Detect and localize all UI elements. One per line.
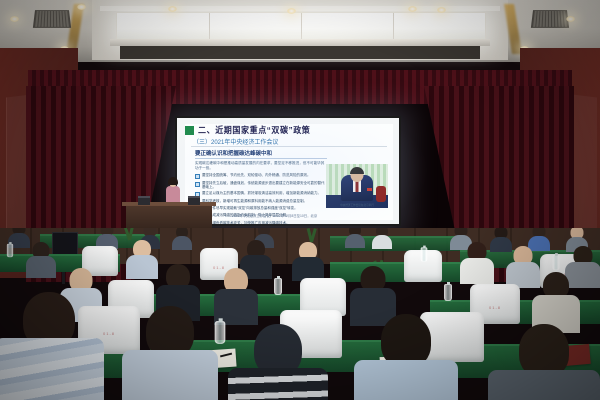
ceiling-light-panel: [116, 12, 486, 40]
chair-mark: 01-8: [103, 331, 115, 336]
downlight-icon: [77, 4, 86, 10]
attendee-body: [354, 360, 458, 400]
downlight-icon: [168, 6, 177, 12]
attendee-body: [228, 368, 328, 400]
slide-bullet: 要狠抓绿色低碳技术攻关，加快推广应用减污降碳技术。: [195, 221, 327, 224]
attendee: [292, 242, 324, 278]
attendee: [345, 228, 365, 246]
hvac-vent-icon: [33, 10, 71, 28]
attendee-foreground: [122, 306, 218, 400]
attendee-foreground: [228, 324, 328, 400]
downlight-icon: [287, 8, 296, 14]
bullet-text: 要坚持先立后破，通盘谋划，传统能源逐步退出要建立在新能源安全可靠的替代基础上。: [202, 181, 327, 190]
downlight-icon: [566, 16, 575, 22]
hvac-vent-icon: [531, 10, 569, 28]
chair-mark: 01-8: [489, 305, 501, 310]
bullet-text: 要坚持全国统筹、节约优先、双轮驱动、内外畅通、防范风险的原则。: [202, 173, 311, 178]
bullet-text: 创造条件尽早实现能耗“双控”向碳排放总量和强度“双控”转变。: [202, 206, 298, 211]
attendee-foreground: [488, 324, 600, 400]
bullet-text: 要立足以煤为主的基本国情，抓好煤炭清洁高效利用，增加新能源消纳能力。: [202, 191, 321, 196]
attendee: [372, 228, 392, 247]
attendee-body: [126, 255, 158, 279]
attendee-body: [172, 236, 192, 250]
water-bottle: [421, 247, 428, 261]
attendee: [96, 228, 118, 247]
slide-section-heading: 要正确认识和把握碳达峰碳中和: [195, 149, 327, 159]
slide-subtitle: （三）2021年中央经济工作会议: [193, 137, 278, 146]
attendee: [126, 240, 158, 276]
water-bottle: [444, 284, 452, 301]
attendee-body: [0, 338, 104, 400]
attendee-foreground: [354, 314, 458, 400]
slide-bullet: 要坚持全国统筹、节约优先、双轮驱动、内外畅通、防范风险的原则。: [195, 173, 327, 179]
photo-caption: 中央经济工作会议在北京举行: [326, 203, 388, 207]
slide-title: 二、近期国家重点“双碳”政策: [198, 125, 310, 137]
ceiling-lip: [110, 39, 490, 46]
bullet-square-icon: [195, 182, 200, 187]
attendee: [214, 268, 258, 322]
photo-person-hair: [350, 167, 364, 174]
bullet-text: 要科学考核，新增可再生能源和原料用能不纳入能源消费总量控制。: [202, 199, 307, 204]
attendee: [460, 242, 494, 280]
downlight-icon: [10, 16, 19, 22]
photo-person-tie: [356, 181, 359, 192]
attendee-body: [26, 256, 56, 278]
laptop-icon: [138, 196, 150, 205]
attendee-body: [372, 235, 392, 249]
ceiling: [0, 0, 600, 62]
slide-bullet: 创造条件尽早实现能耗“双控”向碳排放总量和强度“双控”转变。: [195, 206, 327, 212]
potted-plant: [118, 228, 138, 240]
slide-bullet: 要立足以煤为主的基本国情，抓好煤炭清洁高效利用，增加新能源消纳能力。: [195, 191, 327, 197]
slide-bullet: 要坚持先立后破，通盘谋划，传统能源逐步退出要建立在新能源安全可靠的替代基础上。: [195, 181, 327, 190]
laptop-icon: [188, 196, 200, 205]
presentation-slide: 二、近期国家重点“双碳”政策 （三）2021年中央经济工作会议 要正确认识和把握…: [185, 124, 393, 220]
downlight-icon: [437, 7, 446, 13]
conference-room-photo: 二、近期国家重点“双碳”政策 （三）2021年中央经济工作会议 要正确认识和把握…: [0, 0, 600, 400]
slide-accent-block: [185, 126, 194, 135]
bullet-square-icon: [195, 174, 200, 179]
attendee-body: [460, 258, 494, 284]
attendee-body: [122, 350, 218, 400]
attendee: [172, 228, 192, 248]
photo-red-chair: [376, 186, 386, 202]
water-bottle: [552, 255, 559, 270]
attendee: [532, 272, 580, 330]
water-bottle: [274, 278, 282, 295]
attendee-body: [345, 234, 365, 248]
photo-name-badge: [367, 188, 372, 191]
audience-area: 01-8 01-8: [0, 228, 600, 400]
ceiling-recess-shadow: [120, 46, 480, 59]
attendee: [26, 242, 56, 276]
attendee-body: [488, 370, 600, 400]
attendee-foreground: [0, 292, 104, 400]
presenter-hair: [168, 177, 178, 185]
slide-divider: [191, 146, 387, 147]
potted-plant: [300, 228, 320, 242]
water-bottle: [7, 244, 13, 258]
slide-photo: 中央经济工作会议在北京举行: [326, 164, 388, 208]
bullet-text: 要狠抓绿色低碳技术攻关，加快推广应用减污降碳技术。: [202, 221, 290, 224]
slide-lead-paragraph: 实现碳达峰碳中和是推动高质量发展的内在要求，要坚定不移推进，但不可能毕其功于一役…: [195, 161, 327, 171]
slide-footer: ——2021年中央经济工作会议，2021年12月8日至10日，北京: [225, 213, 317, 218]
downlight-icon: [408, 6, 417, 12]
